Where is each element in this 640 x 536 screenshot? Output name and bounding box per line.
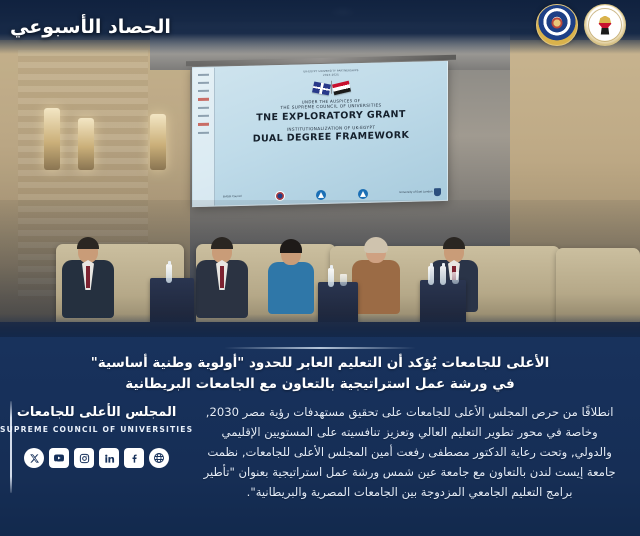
uk-flag-icon	[312, 81, 331, 95]
linkedin-icon[interactable]	[99, 448, 119, 468]
presentation-slide: UK-EGYPT UNIVERSITY PARTNERSHIPS 2024-20…	[215, 62, 447, 206]
article-body-column: انطلاقًا من حرص المجلس الأعلى للجامعات ع…	[193, 399, 640, 536]
water-bottle	[440, 266, 446, 285]
projection-screen: UK-EGYPT UNIVERSITY PARTNERSHIPS 2024-20…	[192, 61, 448, 207]
website-globe-icon[interactable]	[149, 448, 169, 468]
youtube-icon[interactable]	[49, 448, 69, 468]
ain-shams-icon	[316, 190, 326, 200]
slide-title-secondary: DUAL DEGREE FRAMEWORK	[253, 130, 410, 145]
drinking-glass	[340, 274, 347, 286]
supreme-council-emblem-icon	[536, 4, 578, 46]
headline-line-2: في ورشة عمل استراتيجية بالتعاون مع الجام…	[40, 374, 600, 395]
brand-name-arabic: المجلس الأعلى للجامعات	[17, 405, 177, 420]
wall-sconce	[44, 108, 60, 170]
instagram-icon[interactable]	[74, 448, 94, 468]
headline-line-1: الأعلى للجامعات يُؤكد أن التعليم العابر …	[40, 353, 600, 374]
uel-shield-icon	[434, 188, 441, 196]
egypt-government-emblem-icon	[584, 4, 626, 46]
british-council-logo: British Council	[223, 195, 243, 198]
panelist	[268, 242, 314, 314]
panelist	[196, 240, 248, 318]
header-emblems	[536, 4, 626, 46]
slide-title-primary: TNE EXPLORATORY GRANT	[256, 109, 406, 124]
water-bottle	[428, 266, 434, 285]
ain-shams-logo-b	[316, 190, 326, 200]
armchair-empty	[556, 248, 640, 324]
uel-logo: University of East London	[399, 188, 441, 197]
x-twitter-icon[interactable]	[24, 448, 44, 468]
facebook-icon[interactable]	[124, 448, 144, 468]
page-title: الأعلى للجامعات يُؤكد أن التعليم العابر …	[40, 353, 600, 395]
ain-shams-icon	[358, 189, 368, 199]
wall-sconce	[150, 114, 166, 170]
header-bar: الحصاد الأسبوعي	[0, 0, 640, 54]
crossed-flags-icon	[313, 80, 350, 94]
social-links[interactable]	[24, 448, 169, 468]
brand-column: المجلس الأعلى للجامعات SUPREME COUNCIL O…	[0, 399, 193, 536]
water-bottle	[328, 268, 334, 287]
top-divider	[224, 347, 416, 349]
news-card: UK-EGYPT UNIVERSITY PARTNERSHIPS 2024-20…	[0, 0, 640, 536]
article-body-text: انطلاقًا من حرص المجلس الأعلى للجامعات ع…	[201, 403, 618, 503]
wall-sconce	[78, 118, 94, 170]
british-council-label: British Council	[223, 195, 242, 198]
weekly-title: الحصاد الأسبوعي	[10, 16, 171, 38]
water-bottle	[166, 264, 172, 283]
drinking-glass	[452, 272, 459, 284]
uel-logo-label: University of East London	[399, 191, 432, 195]
slide-org-sub: 2024-2025	[323, 73, 339, 77]
article-content: انطلاقًا من حرص المجلس الأعلى للجامعات ع…	[0, 399, 640, 536]
brand-name-english: SUPREME COUNCIL OF UNIVERSITIES	[0, 425, 193, 434]
presentation-thumbnail-rail	[193, 68, 215, 207]
vertical-divider	[10, 401, 12, 493]
article-panel: الأعلى للجامعات يُؤكد أن التعليم العابر …	[0, 337, 640, 536]
panelist	[62, 240, 114, 318]
panelist	[352, 240, 400, 314]
egypt-flag-icon	[332, 80, 351, 95]
ain-shams-logo-a	[358, 189, 368, 199]
